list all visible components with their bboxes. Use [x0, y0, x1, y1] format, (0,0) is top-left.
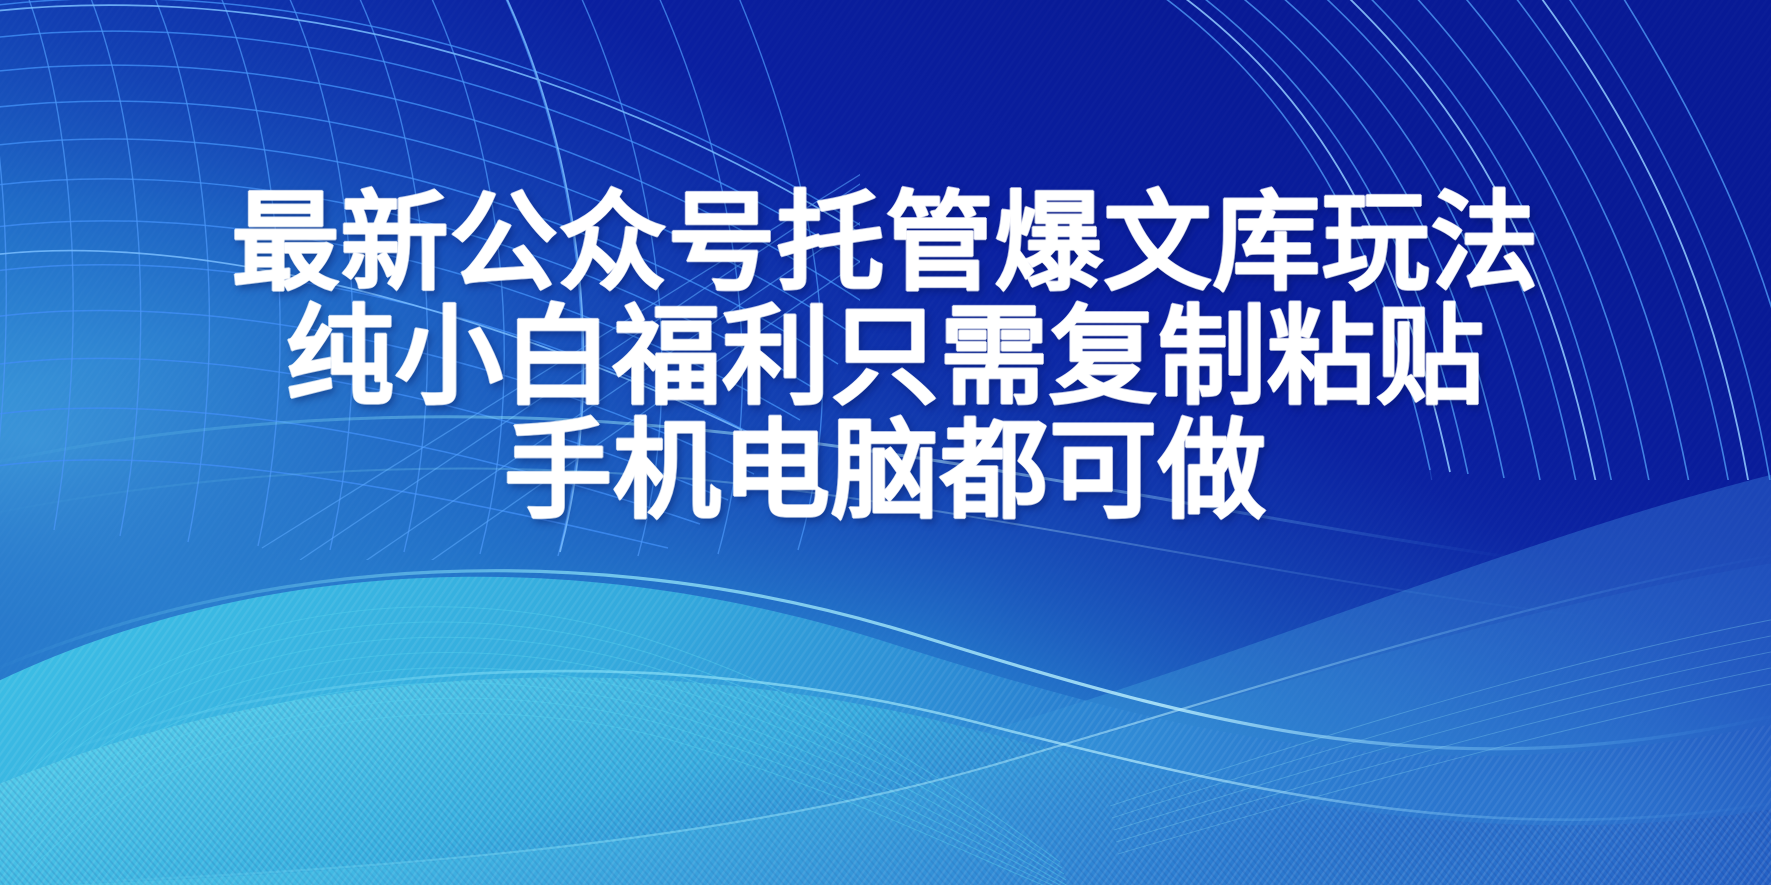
- page-title: 最新公众号托管爆文库玩法 纯小白福利只需复制粘贴 手机电脑都可做: [0, 186, 1771, 528]
- title-line-1: 最新公众号托管爆文库玩法: [0, 186, 1771, 300]
- title-line-2: 纯小白福利只需复制粘贴: [0, 300, 1771, 414]
- banner-canvas: 最新公众号托管爆文库玩法 纯小白福利只需复制粘贴 手机电脑都可做: [0, 0, 1771, 885]
- title-line-3: 手机电脑都可做: [0, 414, 1771, 528]
